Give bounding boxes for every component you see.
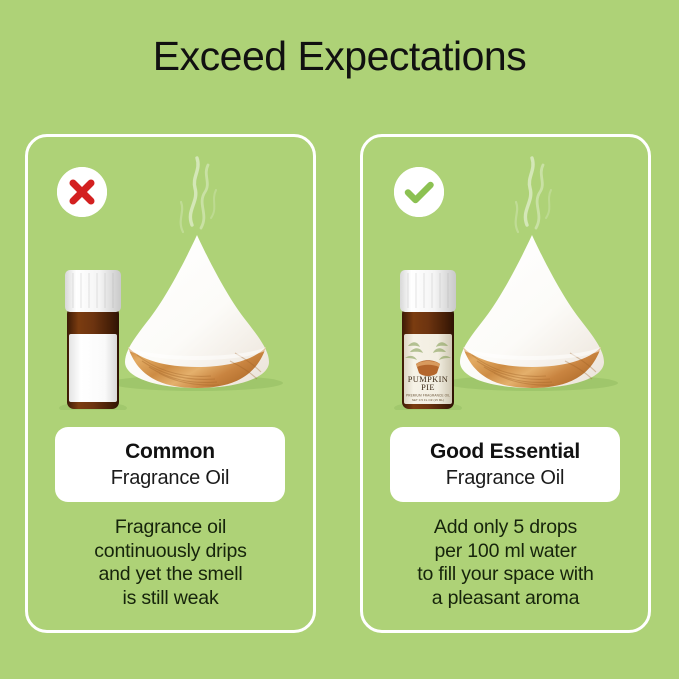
steam-wisp xyxy=(516,158,551,232)
description-line: Fragrance oil xyxy=(35,516,306,540)
plate-brand-label: Good Essential xyxy=(430,440,580,464)
description-line: a pleasant aroma xyxy=(370,587,641,611)
description-line: to fill your space with xyxy=(370,563,641,587)
description-common: Fragrance oil continuously drips and yet… xyxy=(35,516,306,610)
label-line2: NET 0.5 FL OZ (15 ML) xyxy=(412,398,444,402)
description-good-essential: Add only 5 drops per 100 ml water to fil… xyxy=(370,516,641,610)
plate-subtitle-label: Fragrance Oil xyxy=(446,467,565,489)
oil-bottle-label-blank xyxy=(69,334,117,402)
page-title: Exceed Expectations xyxy=(0,33,679,80)
steam-wisp xyxy=(181,158,216,232)
description-line: is still weak xyxy=(35,587,306,611)
description-line: per 100 ml water xyxy=(370,540,641,564)
description-line: continuously drips xyxy=(35,540,306,564)
description-line: Add only 5 drops xyxy=(370,516,641,540)
plate-common: Common Fragrance Oil xyxy=(55,427,285,502)
label-title2: PIE xyxy=(421,383,435,392)
badge-positive xyxy=(394,167,444,217)
oil-bottle-label-pumpkin-pie: PUMPKIN PIE PREMIUM FRAGRANCE OIL NET 0.… xyxy=(404,334,452,404)
plate-brand-label: Common xyxy=(125,440,215,464)
badge-negative xyxy=(57,167,107,217)
label-line1: PREMIUM FRAGRANCE OIL xyxy=(406,394,450,398)
plate-good-essential: Good Essential Fragrance Oil xyxy=(390,427,620,502)
description-line: and yet the smell xyxy=(35,563,306,587)
infographic-stage: Exceed Expectations xyxy=(0,0,679,679)
plate-subtitle-label: Fragrance Oil xyxy=(111,467,230,489)
